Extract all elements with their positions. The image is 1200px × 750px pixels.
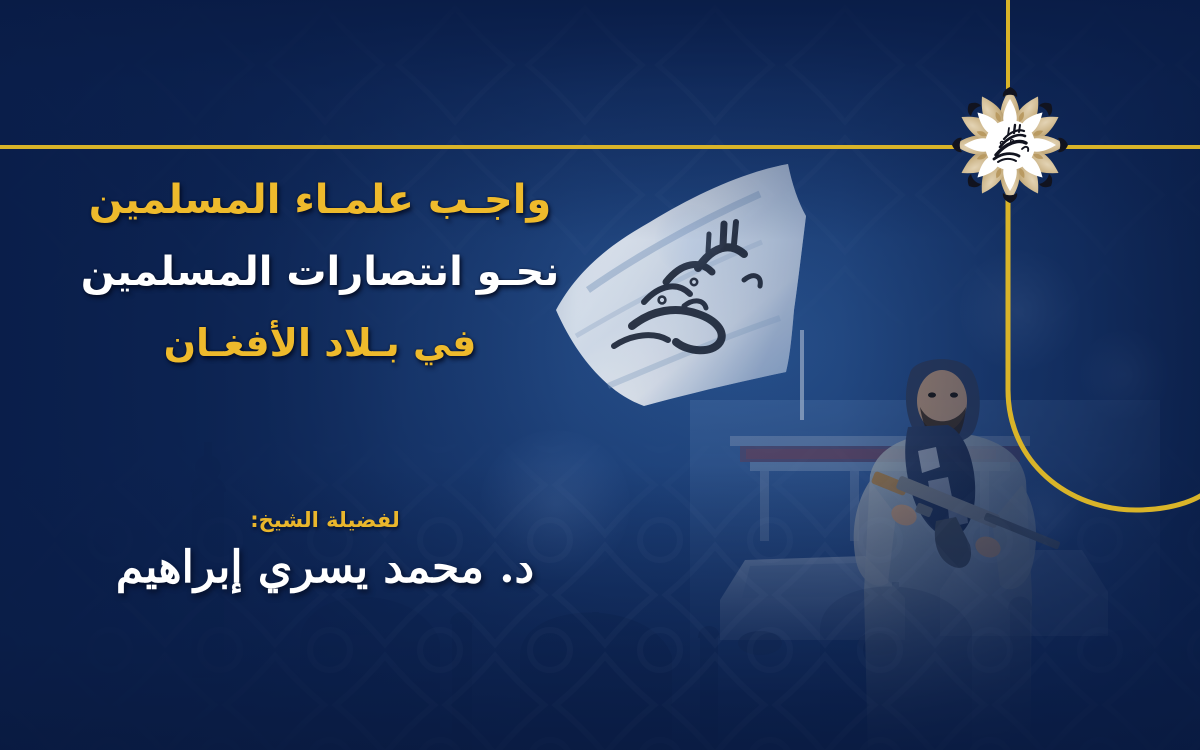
speaker-block: لفضيلة الشيخ: د. محمد يسري إبراهيم (110, 508, 540, 595)
gold-horizontal-rule (0, 145, 1008, 149)
headline-line-3: في بـلاد الأفغـان (60, 324, 580, 362)
headline-line-2: نحـو انتصارات المسلمين (60, 252, 580, 292)
speaker-label: لفضيلة الشيخ: (110, 508, 540, 532)
speaker-name: د. محمد يسري إبراهيم (110, 540, 540, 595)
headline-line-1: واجـب علمـاء المسلمين (60, 180, 580, 220)
calligraphy-medallion-logo[interactable] (948, 83, 1072, 207)
headline-block: واجـب علمـاء المسلمين نحـو انتصارات المس… (60, 180, 580, 362)
poster-canvas: واجـب علمـاء المسلمين نحـو انتصارات المس… (0, 0, 1200, 750)
